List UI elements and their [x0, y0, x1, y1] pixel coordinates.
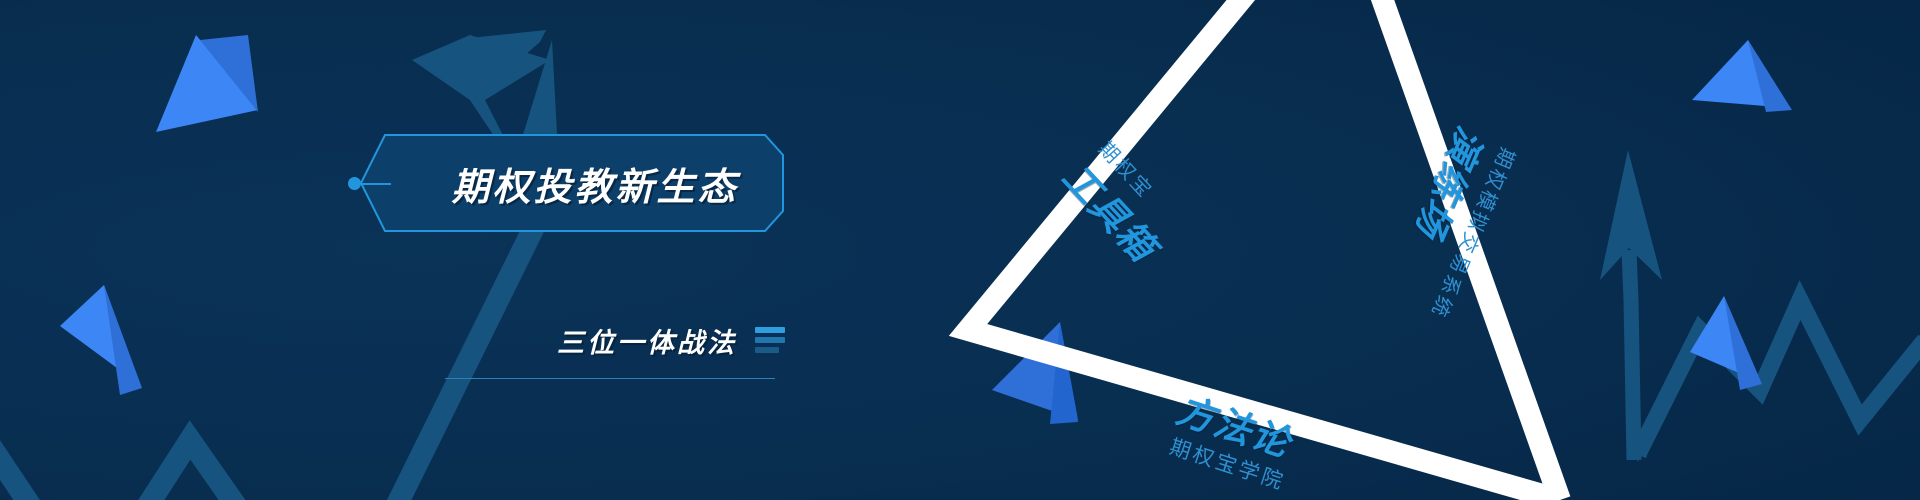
page-title: 期权投教新生态	[415, 133, 775, 233]
subtitle-divider	[445, 378, 775, 379]
subtitle-block: 三位一体战法	[445, 316, 785, 386]
banner-root: 期权宝 工具箱 期权模拟交易系统 演练场 方法论 期权宝学院 期权投教新生态 三…	[0, 0, 1920, 500]
headline-connector-stem	[359, 183, 391, 185]
three-bars-icon	[755, 327, 785, 353]
three-bars-icon-bar-1	[755, 327, 785, 333]
white-triangle-outline	[0, 0, 1920, 500]
subtitle-text: 三位一体战法	[557, 321, 737, 360]
subtitle-row: 三位一体战法	[445, 316, 785, 364]
three-bars-icon-bar-2	[755, 337, 785, 343]
three-bars-icon-bar-3	[755, 347, 779, 353]
headline-block: 期权投教新生态	[355, 133, 785, 233]
